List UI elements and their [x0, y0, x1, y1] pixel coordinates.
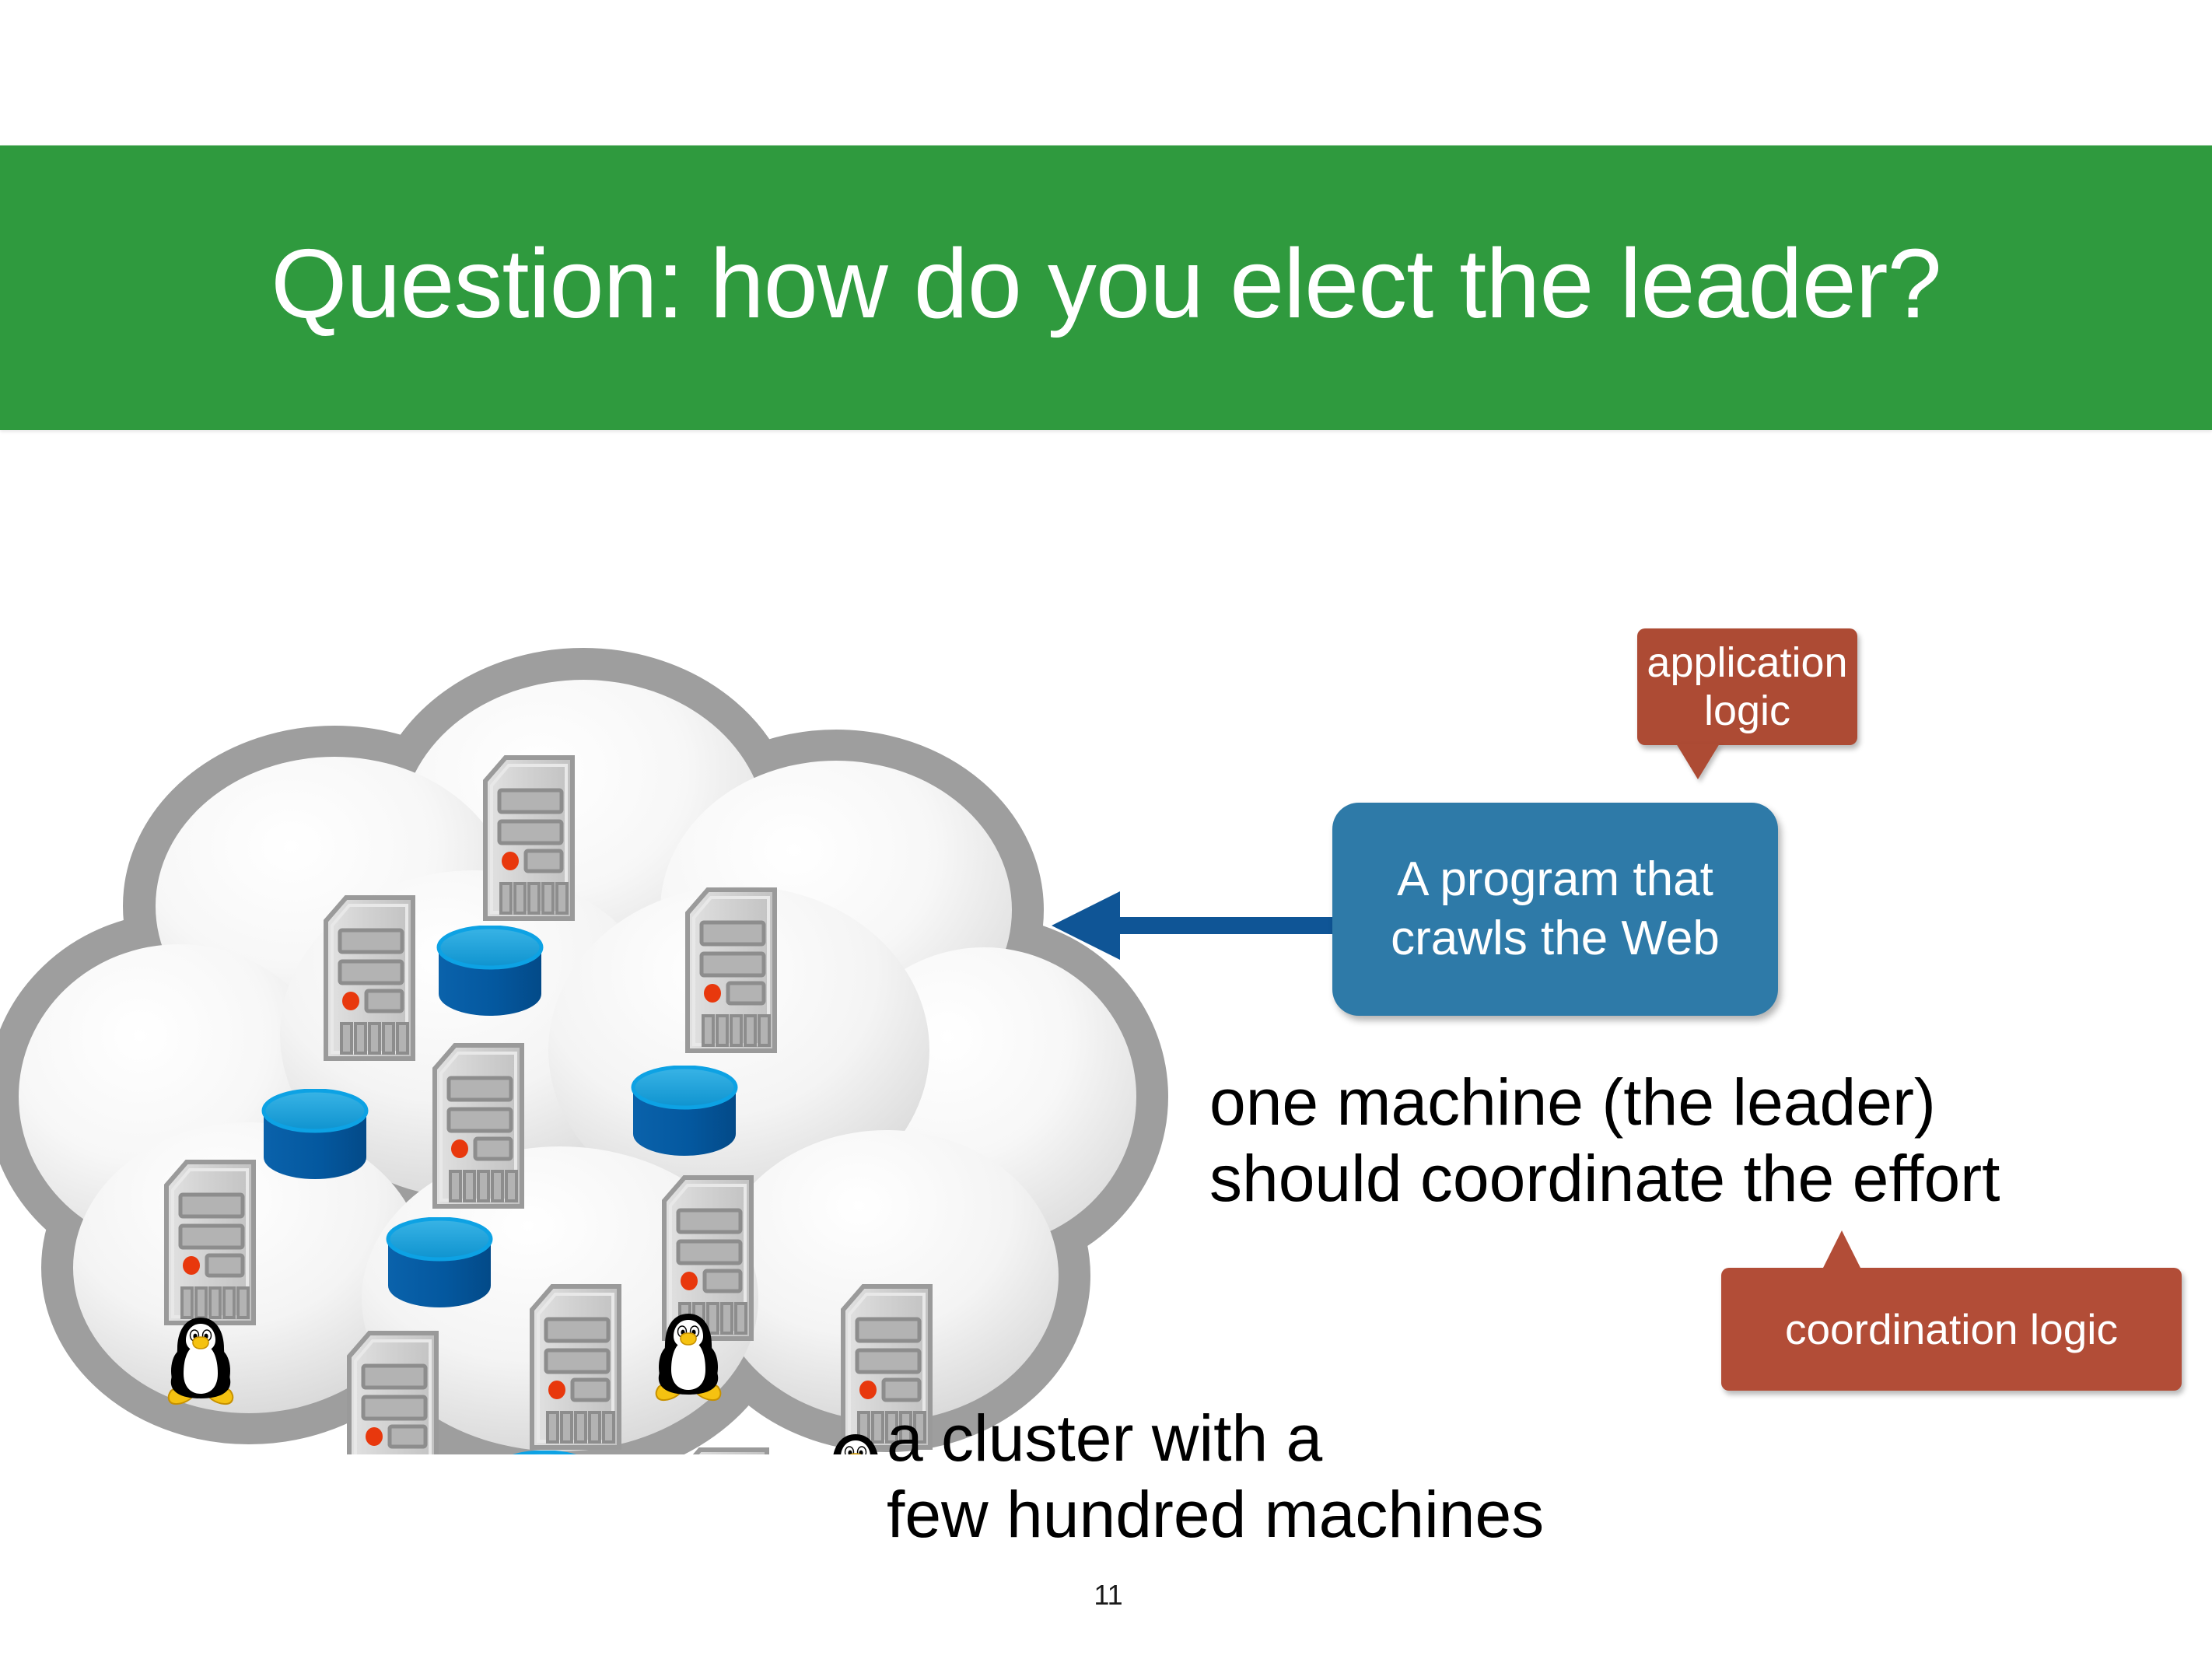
callout-crawler-text: A program that crawls the Web [1391, 850, 1720, 968]
callout-coordination-logic: coordination logic [1721, 1268, 2182, 1391]
leader-note-text: one machine (the leader) should coordina… [1209, 1064, 2212, 1217]
title-banner: Question: how do you elect the leader? [0, 145, 2212, 430]
callout-crawler-line2: crawls the Web [1391, 909, 1720, 968]
arrow-pointing-to-cloud [1042, 883, 1353, 968]
cluster-note-text: a cluster with a few hundred machines [887, 1400, 1742, 1553]
callout-coordination-logic-label: coordination logic [1785, 1304, 2118, 1354]
cluster-cloud-diagram [0, 599, 1174, 1454]
callout-application-logic-label: application logic [1637, 639, 1857, 735]
callout-crawler-line1: A program that [1391, 850, 1720, 909]
callout-application-logic: application logic [1637, 628, 1857, 745]
callout-crawler-description: A program that crawls the Web [1332, 803, 1778, 1016]
page-title: Question: how do you elect the leader? [0, 141, 2212, 425]
page-number: 11 [1054, 1579, 1163, 1612]
